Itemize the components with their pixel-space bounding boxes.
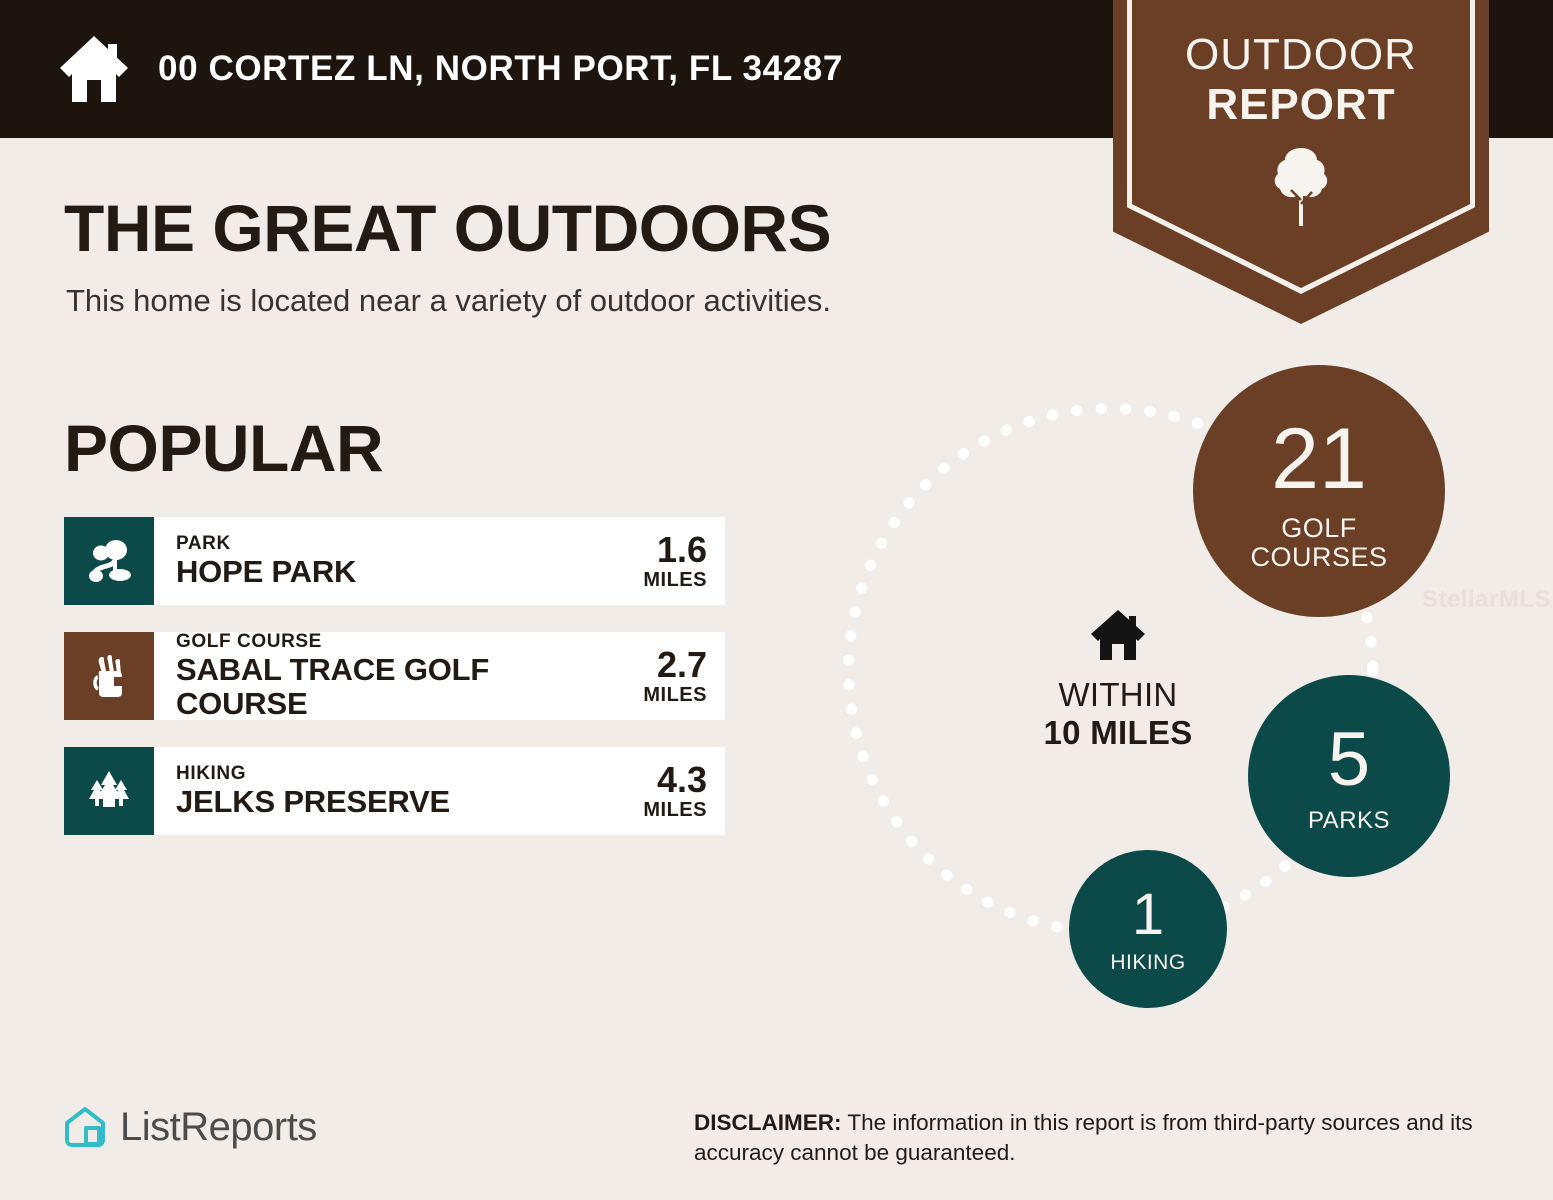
park-icon-tile bbox=[64, 517, 154, 605]
badge-title-line2: REPORT bbox=[1113, 80, 1489, 130]
list-item[interactable]: GOLF COURSE SABAL TRACE GOLF COURSE 2.7 … bbox=[64, 632, 725, 720]
home-icon bbox=[58, 34, 130, 104]
pine-trees-icon bbox=[84, 766, 134, 816]
list-item-distance: 2.7 MILES bbox=[577, 632, 725, 720]
list-item-category: HIKING bbox=[176, 763, 577, 785]
disclaimer: DISCLAIMER: The information in this repo… bbox=[694, 1108, 1494, 1168]
hiking-icon-tile bbox=[64, 747, 154, 835]
list-item-distance-value: 4.3 bbox=[657, 761, 707, 799]
within-10-miles-infographic: WITHIN 10 MILES 21 GOLF COURSES 5 PARKS … bbox=[820, 350, 1553, 1050]
list-item-name: HOPE PARK bbox=[176, 555, 577, 589]
disclaimer-label: DISCLAIMER: bbox=[694, 1110, 842, 1135]
list-item[interactable]: PARK HOPE PARK 1.6 MILES bbox=[64, 517, 725, 605]
list-item-info: PARK HOPE PARK bbox=[154, 517, 577, 605]
listreports-logo[interactable]: ListReports bbox=[62, 1104, 317, 1150]
list-item-info: GOLF COURSE SABAL TRACE GOLF COURSE bbox=[154, 632, 577, 720]
list-item-info: HIKING JELKS PRESERVE bbox=[154, 747, 577, 835]
center-label-line1: WITHIN bbox=[1018, 675, 1218, 714]
badge-title-line1: OUTDOOR bbox=[1113, 30, 1489, 80]
list-item[interactable]: HIKING JELKS PRESERVE 4.3 MILES bbox=[64, 747, 725, 835]
stat-label-line2: COURSES bbox=[1250, 543, 1387, 572]
list-item-category: PARK bbox=[176, 533, 577, 555]
stat-circle-golf-courses[interactable]: 21 GOLF COURSES bbox=[1193, 365, 1445, 617]
golf-bag-icon bbox=[84, 651, 134, 701]
golf-icon-tile bbox=[64, 632, 154, 720]
list-item-name: SABAL TRACE GOLF COURSE bbox=[176, 653, 577, 720]
stat-count: 1 bbox=[1132, 886, 1164, 944]
outdoor-report-badge: OUTDOOR REPORT bbox=[1113, 0, 1489, 324]
page-subtitle: This home is located near a variety of o… bbox=[66, 283, 831, 319]
popular-list: PARK HOPE PARK 1.6 MILES GOLF COURSE SAB… bbox=[64, 517, 725, 862]
list-item-name: JELKS PRESERVE bbox=[176, 785, 577, 819]
stat-count: 5 bbox=[1328, 722, 1370, 798]
list-item-category: GOLF COURSE bbox=[176, 632, 577, 653]
stat-label-line1: GOLF bbox=[1250, 514, 1387, 543]
stat-circle-hiking[interactable]: 1 HIKING bbox=[1069, 850, 1227, 1008]
list-item-distance-unit: MILES bbox=[643, 799, 707, 822]
stat-label: HIKING bbox=[1110, 952, 1185, 974]
mls-watermark: StellarMLS bbox=[1422, 586, 1551, 614]
listreports-house-icon bbox=[62, 1104, 108, 1150]
popular-heading: POPULAR bbox=[64, 410, 383, 486]
list-item-distance: 1.6 MILES bbox=[577, 517, 725, 605]
listreports-logo-text: ListReports bbox=[120, 1105, 317, 1150]
stat-count: 21 bbox=[1271, 416, 1367, 502]
list-item-distance-unit: MILES bbox=[643, 684, 707, 707]
stat-circle-parks[interactable]: 5 PARKS bbox=[1248, 675, 1450, 877]
center-label-group: WITHIN 10 MILES bbox=[1018, 608, 1218, 751]
list-item-distance-value: 2.7 bbox=[657, 646, 707, 684]
list-item-distance: 4.3 MILES bbox=[577, 747, 725, 835]
tree-icon bbox=[1269, 146, 1333, 228]
center-label-line2: 10 MILES bbox=[1018, 714, 1218, 751]
list-item-distance-unit: MILES bbox=[643, 569, 707, 592]
badge-title: OUTDOOR REPORT bbox=[1113, 30, 1489, 130]
property-address: 00 CORTEZ LN, NORTH PORT, FL 34287 bbox=[158, 49, 843, 89]
home-icon bbox=[1089, 608, 1147, 662]
list-item-distance-value: 1.6 bbox=[657, 531, 707, 569]
park-icon bbox=[84, 536, 134, 586]
stat-label: GOLF COURSES bbox=[1250, 514, 1387, 571]
page-title: THE GREAT OUTDOORS bbox=[64, 190, 831, 266]
stat-label: PARKS bbox=[1308, 808, 1390, 833]
